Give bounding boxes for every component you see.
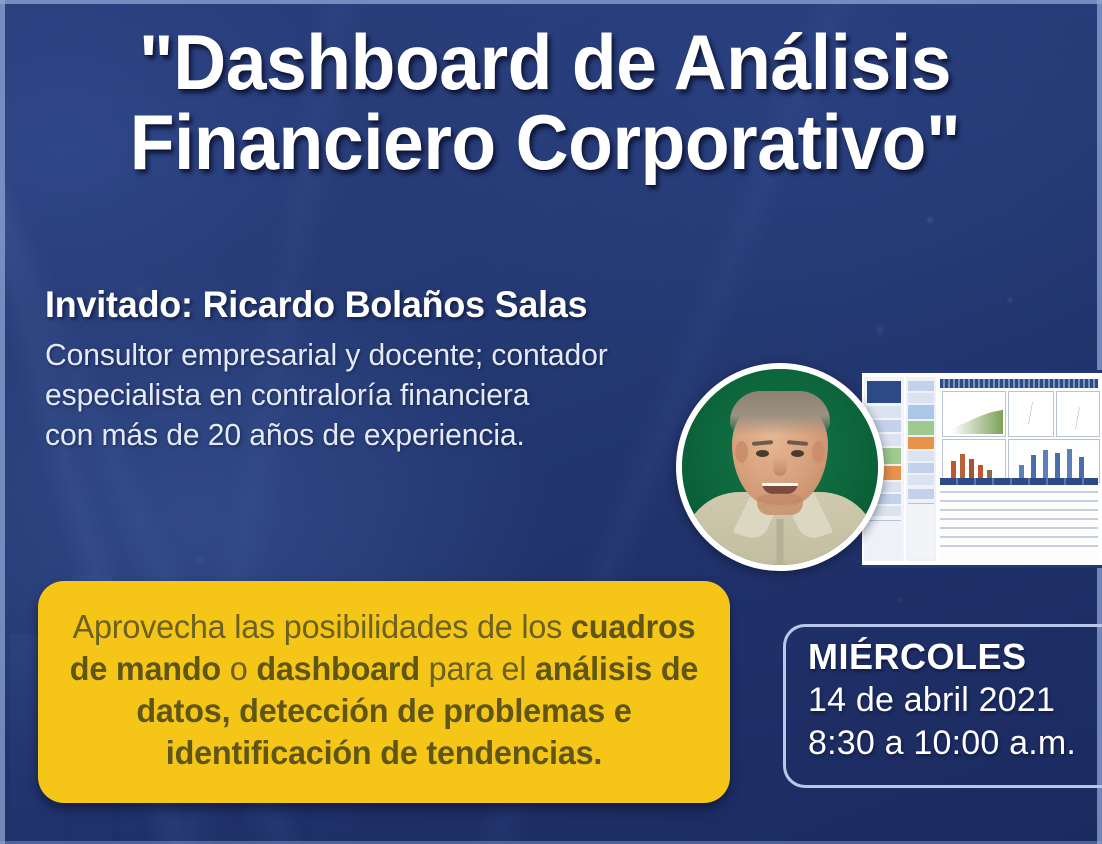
speaker-name: Invitado: Ricardo Bolaños Salas: [45, 283, 724, 327]
event-date: 14 de abril 2021: [808, 679, 1102, 722]
event-time: 8:30 a 10:00 a.m.: [808, 722, 1102, 765]
callout-box: Aprovecha las posibilidades de los cuadr…: [38, 581, 730, 803]
callout-text: Aprovecha las posibilidades de los cuadr…: [61, 606, 708, 774]
poster-title-line-1: "Dashboard de Análisis: [70, 22, 1019, 102]
poster-title-line-2: Financiero Corporativo": [70, 102, 1019, 182]
dashboard-bar-chart-2: [1008, 439, 1100, 483]
speaker-bio-line-1: Consultor empresarial y docente; contado…: [45, 335, 724, 375]
speaker-bio-line-3: con más de 20 años de experiencia.: [45, 415, 724, 455]
dashboard-bar-chart-1: [942, 439, 1006, 483]
event-weekday: MIÉRCOLES: [808, 635, 1102, 679]
speaker-bio: Consultor empresarial y docente; contado…: [45, 335, 724, 455]
dashboard-screenshot-image: [862, 370, 1102, 568]
speaker-avatar: [676, 363, 884, 571]
frame-edge-left: [0, 0, 5, 844]
dashboard-line-chart-1: [1008, 391, 1054, 437]
dashboard-title-bar: [940, 379, 1098, 388]
speaker-bio-line-2: especialista en contraloría financiera: [45, 375, 724, 415]
speaker-block: Invitado: Ricardo Bolaños Salas Consulto…: [45, 283, 745, 455]
callout-bold-2: dashboard: [256, 650, 420, 687]
dashboard-secondary-panel: [906, 377, 936, 561]
poster-title: "Dashboard de Análisis Financiero Corpor…: [70, 22, 1019, 182]
dashboard-main-panel: [938, 377, 1100, 561]
dashboard-line-chart-2: [1056, 391, 1100, 437]
dashboard-data-table: [940, 478, 1098, 559]
dashboard-area-chart: [942, 391, 1006, 437]
webinar-poster: "Dashboard de Análisis Financiero Corpor…: [0, 0, 1102, 844]
callout-part-3: para el: [420, 650, 535, 687]
event-date-box: MIÉRCOLES 14 de abril 2021 8:30 a 10:00 …: [783, 624, 1102, 788]
callout-part-1: Aprovecha las posibilidades de los: [73, 608, 571, 645]
callout-part-2: o: [221, 650, 256, 687]
frame-edge-top: [0, 0, 1102, 4]
